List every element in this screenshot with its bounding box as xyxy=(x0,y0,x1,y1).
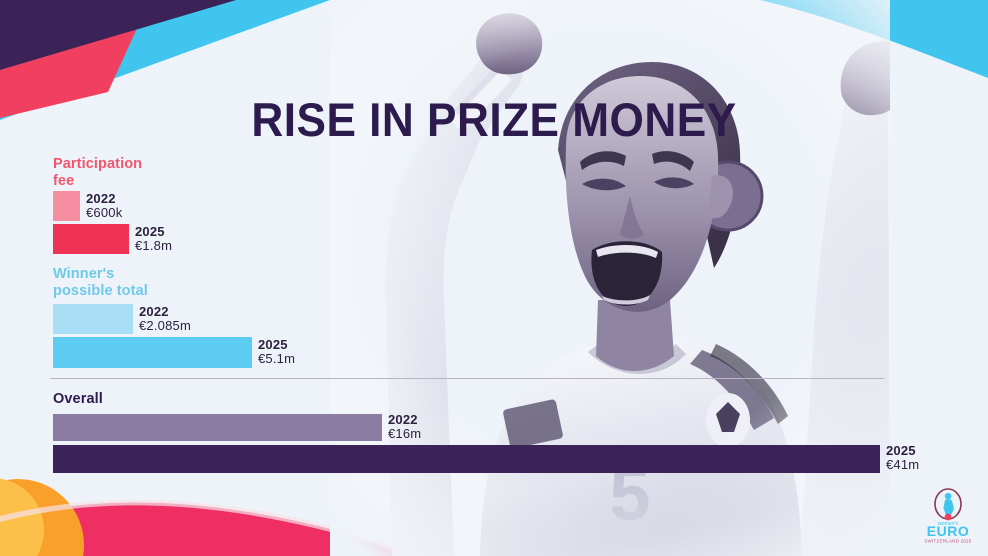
bar-fill xyxy=(53,224,129,254)
bar-value: €5.1m xyxy=(258,352,295,366)
prize-money-chart: Participation fee 2022 €600k 2025 €1.8m … xyxy=(0,0,988,556)
bar-value: €1.8m xyxy=(135,239,172,253)
bar-overall-2022: 2022 €16m xyxy=(53,414,382,441)
bar-year: 2022 xyxy=(139,305,191,319)
uefa-womens-euro-logo: women's EURO SWITZERLAND 2025 xyxy=(918,487,978,545)
logo-wordmark: EURO xyxy=(927,523,969,539)
bar-year: 2025 xyxy=(886,444,919,458)
logo-player-body xyxy=(943,499,954,515)
bar-winners-total-2025: 2025 €5.1m xyxy=(53,337,252,368)
logo-ball xyxy=(945,514,952,521)
bar-fill xyxy=(53,191,80,221)
bar-caption: 2022 €2.085m xyxy=(139,305,191,333)
logo-svg: women's EURO SWITZERLAND 2025 xyxy=(918,487,978,545)
bar-year: 2025 xyxy=(258,338,295,352)
bar-overall-2025: 2025 €41m xyxy=(53,445,880,473)
bar-caption: 2022 €600k xyxy=(86,192,122,220)
bar-fill xyxy=(53,445,880,473)
section-label-winners-possible-total: Winner's possible total xyxy=(53,266,148,299)
section-divider xyxy=(50,378,884,379)
bar-fill xyxy=(53,414,382,441)
bar-year: 2022 xyxy=(388,413,421,427)
bar-caption: 2022 €16m xyxy=(388,413,421,441)
bar-fill xyxy=(53,304,133,334)
section-label-participation-fee: Participation fee xyxy=(53,156,142,189)
bar-value: €600k xyxy=(86,206,122,220)
bar-participation-fee-2025: 2025 €1.8m xyxy=(53,224,129,254)
section-label-overall: Overall xyxy=(53,391,103,408)
bar-value: €41m xyxy=(886,458,919,472)
bar-caption: 2025 €41m xyxy=(886,444,919,472)
bar-fill xyxy=(53,337,252,368)
infographic-canvas: 5 RISE IN PRI xyxy=(0,0,988,556)
bar-value: €2.085m xyxy=(139,319,191,333)
bar-caption: 2025 €1.8m xyxy=(135,225,172,253)
bar-caption: 2025 €5.1m xyxy=(258,338,295,366)
logo-player-head xyxy=(945,493,952,499)
logo-host-line: SWITZERLAND 2025 xyxy=(924,539,972,544)
bar-year: 2022 xyxy=(86,192,122,206)
bar-value: €16m xyxy=(388,427,421,441)
bar-winners-total-2022: 2022 €2.085m xyxy=(53,304,133,334)
bar-participation-fee-2022: 2022 €600k xyxy=(53,191,80,221)
bar-year: 2025 xyxy=(135,225,172,239)
